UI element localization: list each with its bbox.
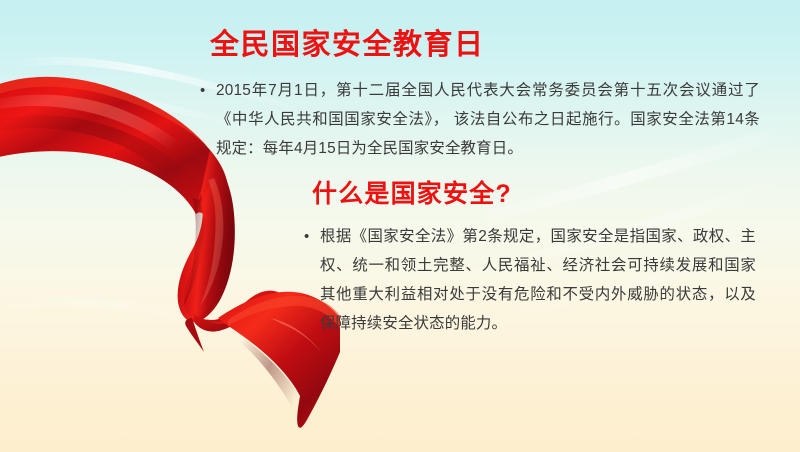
section-subtitle: 什么是国家安全?	[312, 181, 790, 209]
page-title: 全民国家安全教育日	[210, 30, 790, 62]
slide-canvas: 全民国家安全教育日 • 2015年7月1日，第十二届全国人民代表大会常务委员会第…	[0, 0, 800, 452]
paragraph-two: • 根据《国家安全法》第2条规定，国家安全是指国家、政权、主权、统一和领土完整、…	[304, 222, 756, 338]
paragraph-one-text: 2015年7月1日，第十二届全国人民代表大会常务委员会第十五次会议通过了《中华人…	[216, 76, 760, 163]
bullet-icon: •	[304, 222, 320, 251]
content-column: 全民国家安全教育日 • 2015年7月1日，第十二届全国人民代表大会常务委员会第…	[196, 30, 790, 338]
paragraph-one: • 2015年7月1日，第十二届全国人民代表大会常务委员会第十五次会议通过了《中…	[200, 76, 760, 163]
paragraph-two-text: 根据《国家安全法》第2条规定，国家安全是指国家、政权、主权、统一和领土完整、人民…	[320, 222, 756, 338]
bullet-icon: •	[200, 76, 216, 105]
